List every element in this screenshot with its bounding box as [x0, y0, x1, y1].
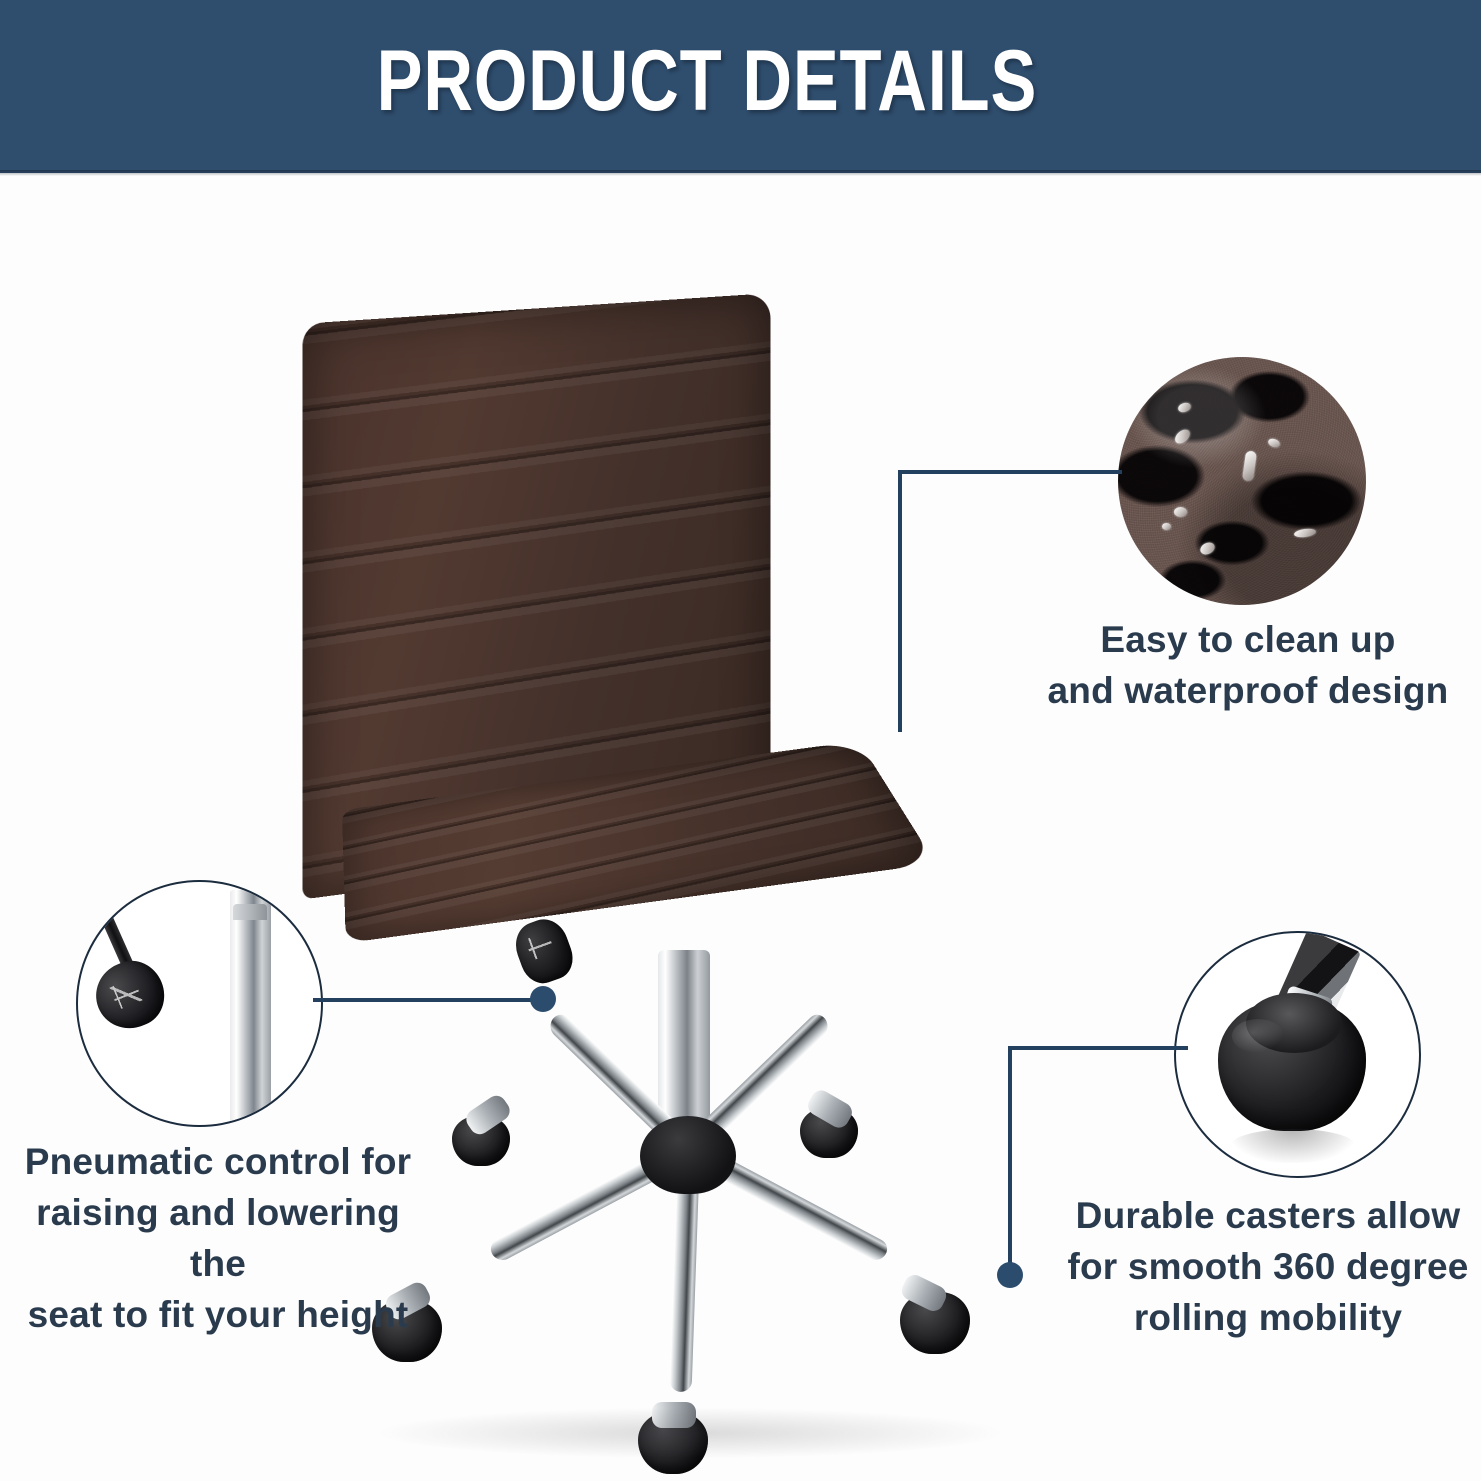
leader-endpoint-dot-pneumatic	[530, 986, 556, 1012]
water-droplet	[1174, 507, 1187, 517]
caster-reflection	[1230, 1129, 1356, 1163]
chrome-cylinder-cap	[233, 904, 267, 920]
product-details-infographic: PRODUCT DETAILS	[0, 0, 1481, 1481]
callout-line: for smooth 360 degree	[1058, 1241, 1478, 1292]
callout-line: Durable casters allow	[1058, 1190, 1478, 1241]
callout-line: seat to fit your height	[8, 1289, 428, 1340]
water-droplet	[1162, 523, 1171, 530]
callout-label-casters: Durable casters allow for smooth 360 deg…	[1058, 1190, 1478, 1343]
callout-line: rolling mobility	[1058, 1292, 1478, 1343]
floor-shadow	[380, 1408, 1000, 1458]
callout-line: Easy to clean up	[1022, 614, 1474, 665]
callout-label-waterproof: Easy to clean up and waterproof design	[1022, 614, 1474, 716]
leader-line-casters-horizontal	[1008, 1046, 1188, 1050]
callout-line: and waterproof design	[1022, 665, 1474, 716]
header-banner-shadow	[0, 170, 1481, 176]
page-title: PRODUCT DETAILS	[115, 36, 1300, 126]
caster-wheel-highlight	[1232, 1019, 1284, 1053]
leather-sheen	[1118, 357, 1366, 605]
base-center-hub	[640, 1116, 736, 1194]
detail-image-caster-wheel	[1174, 931, 1421, 1178]
leader-line-casters-vertical	[1008, 1046, 1012, 1278]
callout-line: Pneumatic control for	[8, 1136, 428, 1187]
callout-line: raising and lowering the	[8, 1187, 428, 1289]
callout-label-pneumatic: Pneumatic control for raising and loweri…	[8, 1136, 428, 1340]
leader-line-waterproof-horizontal	[898, 470, 1122, 474]
detail-image-pneumatic-lever	[76, 880, 323, 1127]
leader-line-pneumatic	[313, 998, 545, 1002]
leader-line-waterproof-vertical	[898, 470, 902, 732]
detail-image-waterproof-leather	[1118, 357, 1366, 605]
chrome-cylinder	[230, 890, 271, 1125]
leader-endpoint-dot-casters	[997, 1262, 1023, 1288]
